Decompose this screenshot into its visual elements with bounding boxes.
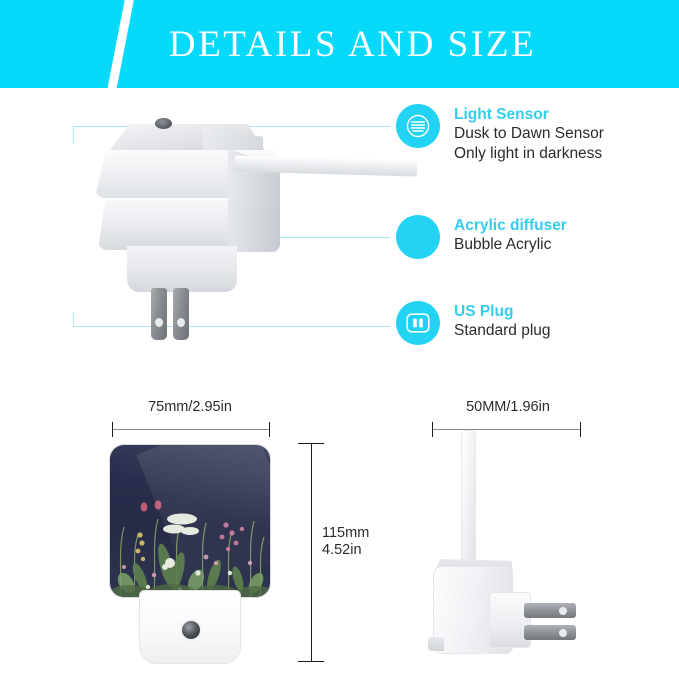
plug-prong-hole (155, 318, 163, 327)
annotation-light-sensor-text: Light Sensor Dusk to Dawn Sensor Only li… (454, 104, 604, 164)
plug-prong-hole (559, 607, 567, 615)
side-plug-prong-top (524, 603, 576, 618)
height-dimension-cap-bottom (298, 661, 324, 662)
page-header-banner: DETAILS AND SIZE (0, 0, 679, 88)
leader-line-plug-tick (73, 312, 74, 326)
width-dimension-line (112, 429, 269, 430)
plug-prong-right (173, 288, 189, 340)
base-light-sensor (182, 621, 200, 639)
annotation-line: Standard plug (454, 321, 551, 341)
width-dimension-label: 75mm/2.95in (110, 399, 270, 416)
height-dimension-label: 115mm 4.52in (322, 525, 392, 559)
light-sensor-icon (396, 104, 440, 148)
nightlight-front-view (110, 445, 280, 663)
plug-prong-hole (559, 629, 567, 637)
light-sensor-lens (155, 118, 172, 129)
height-dimension-label-in: 4.52in (322, 542, 392, 559)
annotation-line: Only light in darkness (454, 144, 604, 164)
acrylic-diffuser-icon (396, 215, 440, 259)
annotation-line: Bubble Acrylic (454, 235, 567, 255)
product-size-section: 75mm/2.95in (0, 373, 679, 679)
depth-dimension-label: 50MM/1.96in (428, 399, 588, 416)
side-panel-edge (462, 431, 475, 573)
width-dimension-cap-left (112, 422, 113, 437)
annotation-us-plug-text: US Plug Standard plug (454, 301, 551, 341)
nightlight-side-view (428, 431, 588, 663)
nightlight-plug-base (127, 246, 237, 292)
nightlight-decorative-panel (110, 445, 270, 597)
plug-prong-left (151, 288, 167, 340)
nightlight-base (140, 591, 240, 663)
annotation-us-plug: US Plug Standard plug (396, 301, 551, 345)
annotation-line: Dusk to Dawn Sensor (454, 124, 604, 144)
nightlight-angled-view (95, 106, 345, 321)
side-plug-prong-bottom (524, 625, 576, 640)
product-details-section: Light Sensor Dusk to Dawn Sensor Only li… (0, 88, 679, 373)
annotation-light-sensor: Light Sensor Dusk to Dawn Sensor Only li… (396, 104, 604, 164)
depth-dimension-line (432, 429, 580, 430)
side-body-foot (428, 637, 444, 651)
height-dimension-label-mm: 115mm (322, 525, 392, 542)
annotation-title: Light Sensor (454, 105, 604, 124)
us-plug-icon (396, 301, 440, 345)
width-dimension-cap-right (269, 422, 270, 437)
annotation-title: US Plug (454, 302, 551, 321)
annotation-acrylic-diffuser: Acrylic diffuser Bubble Acrylic (396, 215, 567, 259)
leader-line-plug (73, 326, 390, 327)
annotation-acrylic-diffuser-text: Acrylic diffuser Bubble Acrylic (454, 215, 567, 255)
plug-prong-hole (177, 318, 185, 327)
leader-line-sensor-tick (73, 126, 74, 144)
annotation-title: Acrylic diffuser (454, 216, 567, 235)
height-dimension-line (311, 443, 312, 661)
page-title: DETAILS AND SIZE (0, 0, 679, 88)
